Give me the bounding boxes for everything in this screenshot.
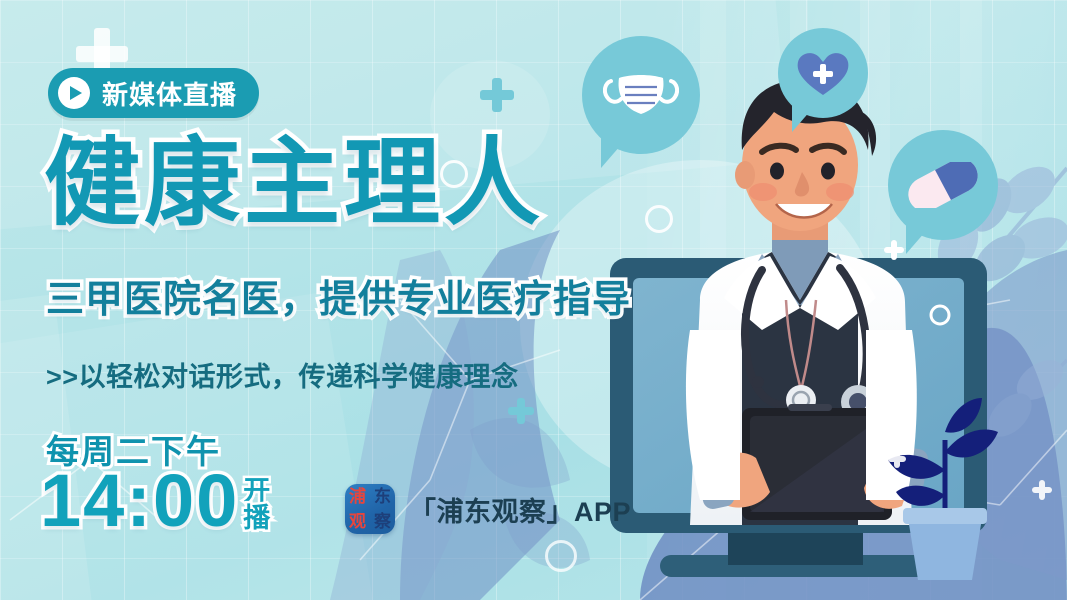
logo-char-3: 观 bbox=[349, 513, 366, 530]
app-attribution[interactable]: 浦 东 观 察 「浦东观察」APP bbox=[345, 484, 631, 534]
medical-cross-icon bbox=[508, 398, 534, 424]
onair-char-2: 播 bbox=[243, 505, 270, 532]
health-livestream-banner: 新媒体直播 健康主理人 三甲医院名医，提供专业医疗指导 >>以轻松对话形式，传递… bbox=[0, 0, 1067, 600]
app-logo-icon: 浦 东 观 察 bbox=[345, 484, 395, 534]
ring-accent bbox=[645, 205, 673, 233]
medical-cross-icon bbox=[888, 450, 906, 468]
logo-char-1: 浦 bbox=[349, 488, 366, 505]
schedule-onair-label: 开 播 bbox=[243, 478, 270, 532]
pill-capsule-icon bbox=[904, 162, 982, 208]
mask-bubble bbox=[582, 36, 700, 154]
heart-bubble bbox=[778, 28, 868, 118]
live-badge-label: 新媒体直播 bbox=[102, 75, 237, 112]
onair-char-1: 开 bbox=[243, 478, 270, 505]
medical-cross-icon bbox=[884, 240, 904, 260]
schedule-time: 14:00 bbox=[40, 466, 239, 536]
pill-bubble bbox=[888, 130, 998, 240]
page-subtitle: 三甲医院名医，提供专业医疗指导 bbox=[46, 268, 631, 323]
page-tagline: >>以轻松对话形式，传递科学健康理念 bbox=[46, 355, 519, 394]
face-mask-icon bbox=[603, 69, 679, 121]
logo-char-2: 东 bbox=[374, 488, 391, 505]
app-name-label: 「浦东观察」APP bbox=[409, 490, 631, 529]
heart-plus-icon bbox=[794, 47, 852, 99]
ring-accent bbox=[545, 540, 577, 572]
live-badge[interactable]: 新媒体直播 bbox=[48, 68, 259, 118]
medical-cross-icon bbox=[1032, 480, 1052, 500]
medical-cross-icon bbox=[480, 78, 514, 112]
page-title: 健康主理人 bbox=[44, 134, 544, 235]
logo-char-4: 察 bbox=[374, 513, 391, 530]
schedule-time-group: 14:00 开 播 bbox=[40, 466, 270, 536]
play-icon bbox=[58, 77, 90, 109]
